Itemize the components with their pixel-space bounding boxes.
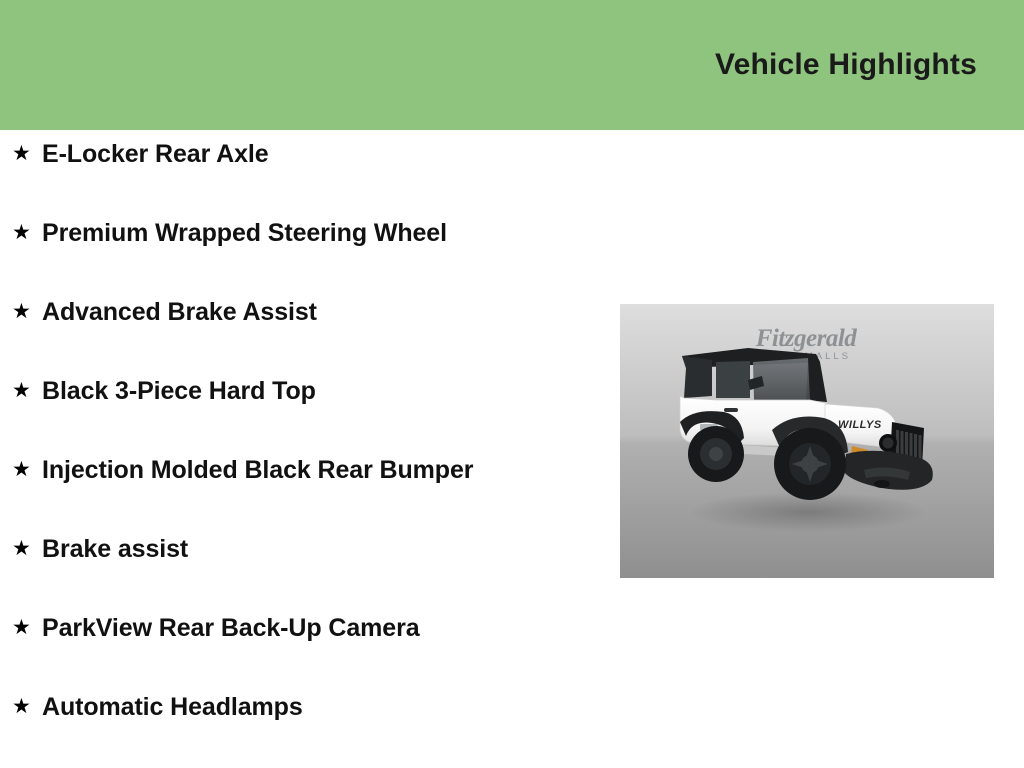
highlight-label: ParkView Rear Back-Up Camera — [42, 605, 620, 651]
star-icon: ★ — [12, 131, 42, 177]
willys-decal: WILLYS — [838, 419, 882, 431]
list-item: ★ Black 3-Piece Hard Top — [0, 368, 620, 447]
highlight-label: Automatic Headlamps — [42, 684, 620, 730]
rear-wheel — [688, 426, 744, 482]
star-icon: ★ — [12, 605, 42, 651]
star-icon: ★ — [12, 368, 42, 414]
list-item: ★ E-Locker Rear Axle — [0, 131, 620, 210]
rear-window — [682, 356, 712, 398]
star-icon: ★ — [12, 526, 42, 572]
front-wheel — [774, 428, 846, 500]
star-icon: ★ — [12, 210, 42, 256]
list-item: ★ Automatic Headlamps — [0, 684, 620, 763]
vehicle-photo: Fitzgerald AUTO MALLS WILLYS — [620, 304, 994, 578]
list-item: ★ Injection Molded Black Rear Bumper — [0, 447, 620, 526]
page-title: Vehicle Highlights — [715, 48, 977, 82]
headlamp-lens — [883, 438, 894, 449]
header-banner: Vehicle Highlights — [0, 0, 1024, 130]
star-icon: ★ — [12, 289, 42, 335]
fog-lamp — [874, 480, 890, 488]
highlight-label: Premium Wrapped Steering Wheel — [42, 210, 620, 256]
list-item: ★ ParkView Rear Back-Up Camera — [0, 605, 620, 684]
vehicle-illustration: Fitzgerald AUTO MALLS WILLYS — [620, 304, 994, 578]
star-icon: ★ — [12, 684, 42, 730]
highlight-label: Advanced Brake Assist — [42, 289, 620, 335]
list-item: ★ Brake assist — [0, 526, 620, 605]
vehicle-highlights-list: ★ E-Locker Rear Axle ★ Premium Wrapped S… — [0, 131, 620, 763]
jeep-wrangler: WILLYS — [680, 348, 933, 500]
list-item: ★ Advanced Brake Assist — [0, 289, 620, 368]
highlight-label: E-Locker Rear Axle — [42, 131, 620, 177]
door-handle — [724, 408, 738, 412]
highlight-label: Injection Molded Black Rear Bumper — [42, 447, 620, 493]
highlight-label: Black 3-Piece Hard Top — [42, 368, 620, 414]
highlight-label: Brake assist — [42, 526, 620, 572]
list-item: ★ Premium Wrapped Steering Wheel — [0, 210, 620, 289]
star-icon: ★ — [12, 447, 42, 493]
watermark-primary: Fitzgerald — [755, 325, 858, 352]
door-window — [716, 361, 750, 398]
